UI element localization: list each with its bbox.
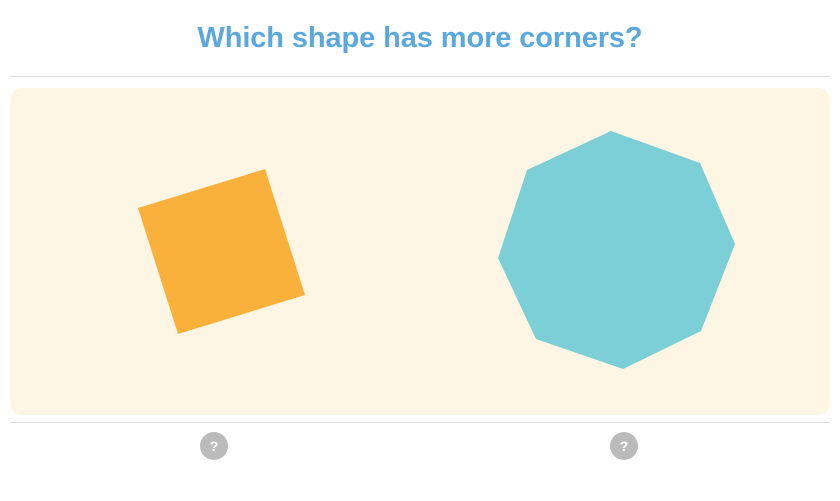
hint-button-left[interactable]: ?: [200, 432, 228, 460]
page-title: Which shape has more corners?: [197, 24, 642, 53]
answer-slot-left: ?: [200, 432, 228, 460]
title-bar: Which shape has more corners?: [0, 0, 840, 76]
hint-button-right[interactable]: ?: [610, 432, 638, 460]
answer-slot-right: ?: [610, 432, 638, 460]
shape-quiz-app: Which shape has more corners? ? ?: [0, 0, 840, 501]
divider-top: [10, 76, 830, 77]
shape-octagon[interactable]: [498, 131, 735, 369]
shape-square[interactable]: [138, 169, 305, 334]
shape-stage: [10, 88, 830, 415]
answer-row: ? ?: [10, 423, 830, 501]
